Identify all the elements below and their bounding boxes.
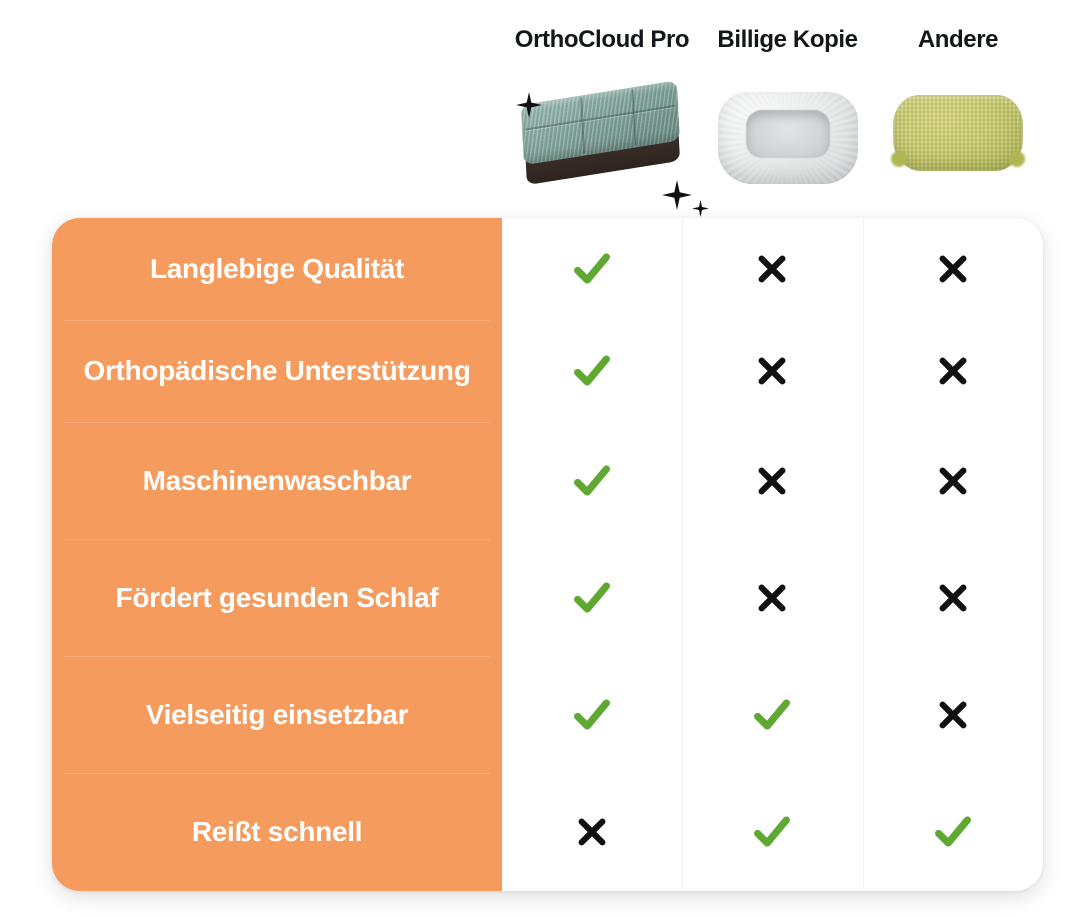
product-image-andere — [873, 68, 1043, 198]
check-icon — [569, 692, 615, 738]
feature-label-cell: Langlebige Qualität — [52, 218, 502, 320]
mark-cell-orthocloud-pro — [502, 422, 682, 539]
product-name-1: OrthoCloud Pro — [502, 26, 702, 54]
cross-icon — [936, 581, 970, 615]
plush-inner-cushion — [746, 110, 830, 158]
check-icon — [569, 458, 615, 504]
product-column-header-2: Billige Kopie — [702, 0, 873, 218]
mark-cell-andere — [863, 539, 1043, 656]
mark-cell-billige-kopie — [682, 539, 862, 656]
check-icon — [569, 246, 615, 292]
check-icon — [749, 692, 795, 738]
feature-label-cell: Reißt schnell — [52, 773, 502, 891]
cross-icon — [755, 581, 789, 615]
feature-label-cell: Fördert gesunden Schlaf — [52, 539, 502, 656]
table-row: Fördert gesunden Schlaf — [52, 539, 1043, 656]
feature-label: Langlebige Qualität — [150, 252, 404, 285]
product-column-header-3: Andere — [873, 0, 1043, 218]
feature-label: Orthopädische Unterstützung — [83, 354, 470, 387]
mark-cell-billige-kopie — [682, 656, 862, 773]
mat-seam — [580, 97, 585, 154]
mark-cell-orthocloud-pro — [502, 320, 682, 422]
feature-label: Reißt schnell — [192, 815, 362, 848]
cross-icon — [755, 464, 789, 498]
comparison-table-card: Langlebige QualitätOrthopädische Unterst… — [52, 218, 1043, 891]
mark-cell-orthocloud-pro — [502, 539, 682, 656]
mark-cell-billige-kopie — [682, 422, 862, 539]
cross-icon — [936, 354, 970, 388]
mark-cell-andere — [863, 422, 1043, 539]
mark-cell-orthocloud-pro — [502, 773, 682, 891]
olive-pillow-illustration — [893, 95, 1023, 171]
product-name-3: Andere — [873, 26, 1043, 54]
feature-label-cell: Vielseitig einsetzbar — [52, 656, 502, 773]
table-row: Orthopädische Unterstützung — [52, 320, 1043, 422]
mark-cell-orthocloud-pro — [502, 656, 682, 773]
mark-cell-billige-kopie — [682, 218, 862, 320]
sparkle-icon — [662, 180, 692, 210]
mark-cell-andere — [863, 656, 1043, 773]
mark-cell-andere — [863, 218, 1043, 320]
mark-cell-billige-kopie — [682, 773, 862, 891]
cross-icon — [575, 815, 609, 849]
check-icon — [569, 575, 615, 621]
product-column-header-1: OrthoCloud Pro — [502, 0, 702, 218]
cross-icon — [936, 252, 970, 286]
mat-seam — [525, 105, 675, 131]
feature-label: Fördert gesunden Schlaf — [116, 581, 439, 614]
cross-icon — [755, 252, 789, 286]
product-image-billige-kopie — [702, 68, 873, 198]
mat-seam — [632, 89, 637, 146]
mark-cell-andere — [863, 320, 1043, 422]
cross-icon — [936, 464, 970, 498]
mark-cell-billige-kopie — [682, 320, 862, 422]
check-icon — [930, 809, 976, 855]
table-row: Langlebige Qualität — [52, 218, 1043, 320]
mark-cell-andere — [863, 773, 1043, 891]
product-image-orthocloud-pro — [502, 68, 702, 198]
table-row: Vielseitig einsetzbar — [52, 656, 1043, 773]
cross-icon — [755, 354, 789, 388]
table-row: Reißt schnell — [52, 773, 1043, 891]
cross-icon — [936, 698, 970, 732]
check-icon — [749, 809, 795, 855]
feature-label: Maschinenwaschbar — [143, 464, 412, 497]
feature-label-cell: Maschinenwaschbar — [52, 422, 502, 539]
check-icon — [569, 348, 615, 394]
feature-label: Vielseitig einsetzbar — [146, 698, 408, 731]
grey-plush-bed-illustration — [718, 84, 858, 188]
table-row: Maschinenwaschbar — [52, 422, 1043, 539]
teal-corduroy-bed-mat-illustration — [521, 80, 683, 189]
product-header-area: OrthoCloud Pro Billige Kopie — [0, 0, 1080, 218]
mark-cell-orthocloud-pro — [502, 218, 682, 320]
product-name-2: Billige Kopie — [702, 26, 873, 54]
feature-label-cell: Orthopädische Unterstützung — [52, 320, 502, 422]
